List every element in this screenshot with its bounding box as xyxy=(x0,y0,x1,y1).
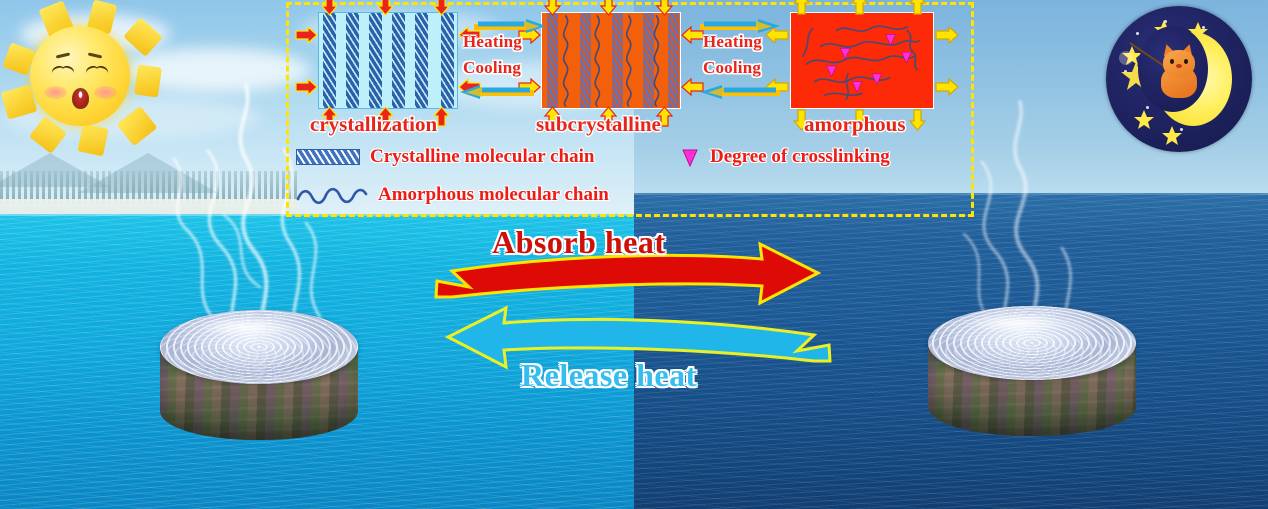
amorphous-chains xyxy=(791,13,933,108)
magenta-triangle-icon xyxy=(680,147,700,167)
arrow-inward-crystallization-left-lower xyxy=(294,78,318,96)
arrows-inward-crystallization-top xyxy=(318,0,460,16)
arrows-outward-amorphous-top xyxy=(790,0,936,16)
absorb-heat-label: Absorb heat xyxy=(492,224,666,261)
state-box-subcrystalline xyxy=(541,12,681,109)
transition-right-cooling-label: Cooling xyxy=(703,58,761,78)
arrows-inward-subcrystalline-top xyxy=(541,0,683,16)
state-label-subcrystalline: subcrystalline xyxy=(536,112,661,137)
legend-label-crosslinking: Degree of crosslinking xyxy=(710,146,890,168)
state-box-amorphous xyxy=(790,12,934,109)
sun-mouth xyxy=(72,88,89,109)
dish-highlight xyxy=(196,317,295,336)
sample-dish-left xyxy=(160,310,358,446)
sample-dish-right xyxy=(928,306,1136,448)
arrow-outward-amorphous-right-upper xyxy=(934,26,960,44)
dish-surface xyxy=(160,310,358,384)
arrow-outward-amorphous-right-lower xyxy=(934,78,960,96)
cat-nose xyxy=(1176,64,1182,68)
transition-right-heating-label: Heating xyxy=(703,32,762,52)
legend-label-amorphous-chain: Amorphous molecular chain xyxy=(378,184,609,206)
wavy-line-icon xyxy=(296,185,368,205)
transition-left-heating-label: Heating xyxy=(463,32,522,52)
legend-label-crystalline-chain: Crystalline molecular chain xyxy=(370,146,594,168)
figure-canvas: crystallization xyxy=(0,0,1268,509)
transition-left-cooling-label: Cooling xyxy=(463,58,521,78)
arrow-inward-crystallization-left-upper xyxy=(294,26,318,44)
sun-disc xyxy=(30,26,130,126)
transition-left-cooling-arrow xyxy=(456,84,536,100)
dish-highlight xyxy=(965,313,1069,332)
release-heat-label: Release heat xyxy=(521,357,697,394)
legend-item-amorphous-chain: Amorphous molecular chain xyxy=(296,184,609,206)
legend-item-crystalline-chain: Crystalline molecular chain xyxy=(296,146,594,168)
hatched-rectangle-icon xyxy=(296,149,360,165)
moon-night-icon xyxy=(1106,6,1252,152)
state-label-amorphous: amorphous xyxy=(804,112,906,137)
transition-right-cooling-arrow xyxy=(696,84,782,100)
state-label-crystallization: crystallization xyxy=(310,112,437,137)
state-box-crystallization xyxy=(318,12,458,109)
sun-icon xyxy=(4,2,156,152)
legend-item-crosslinking: Degree of crosslinking xyxy=(680,146,890,168)
amorphous-chains-subcrystalline xyxy=(542,13,680,108)
dish-surface xyxy=(928,306,1136,380)
